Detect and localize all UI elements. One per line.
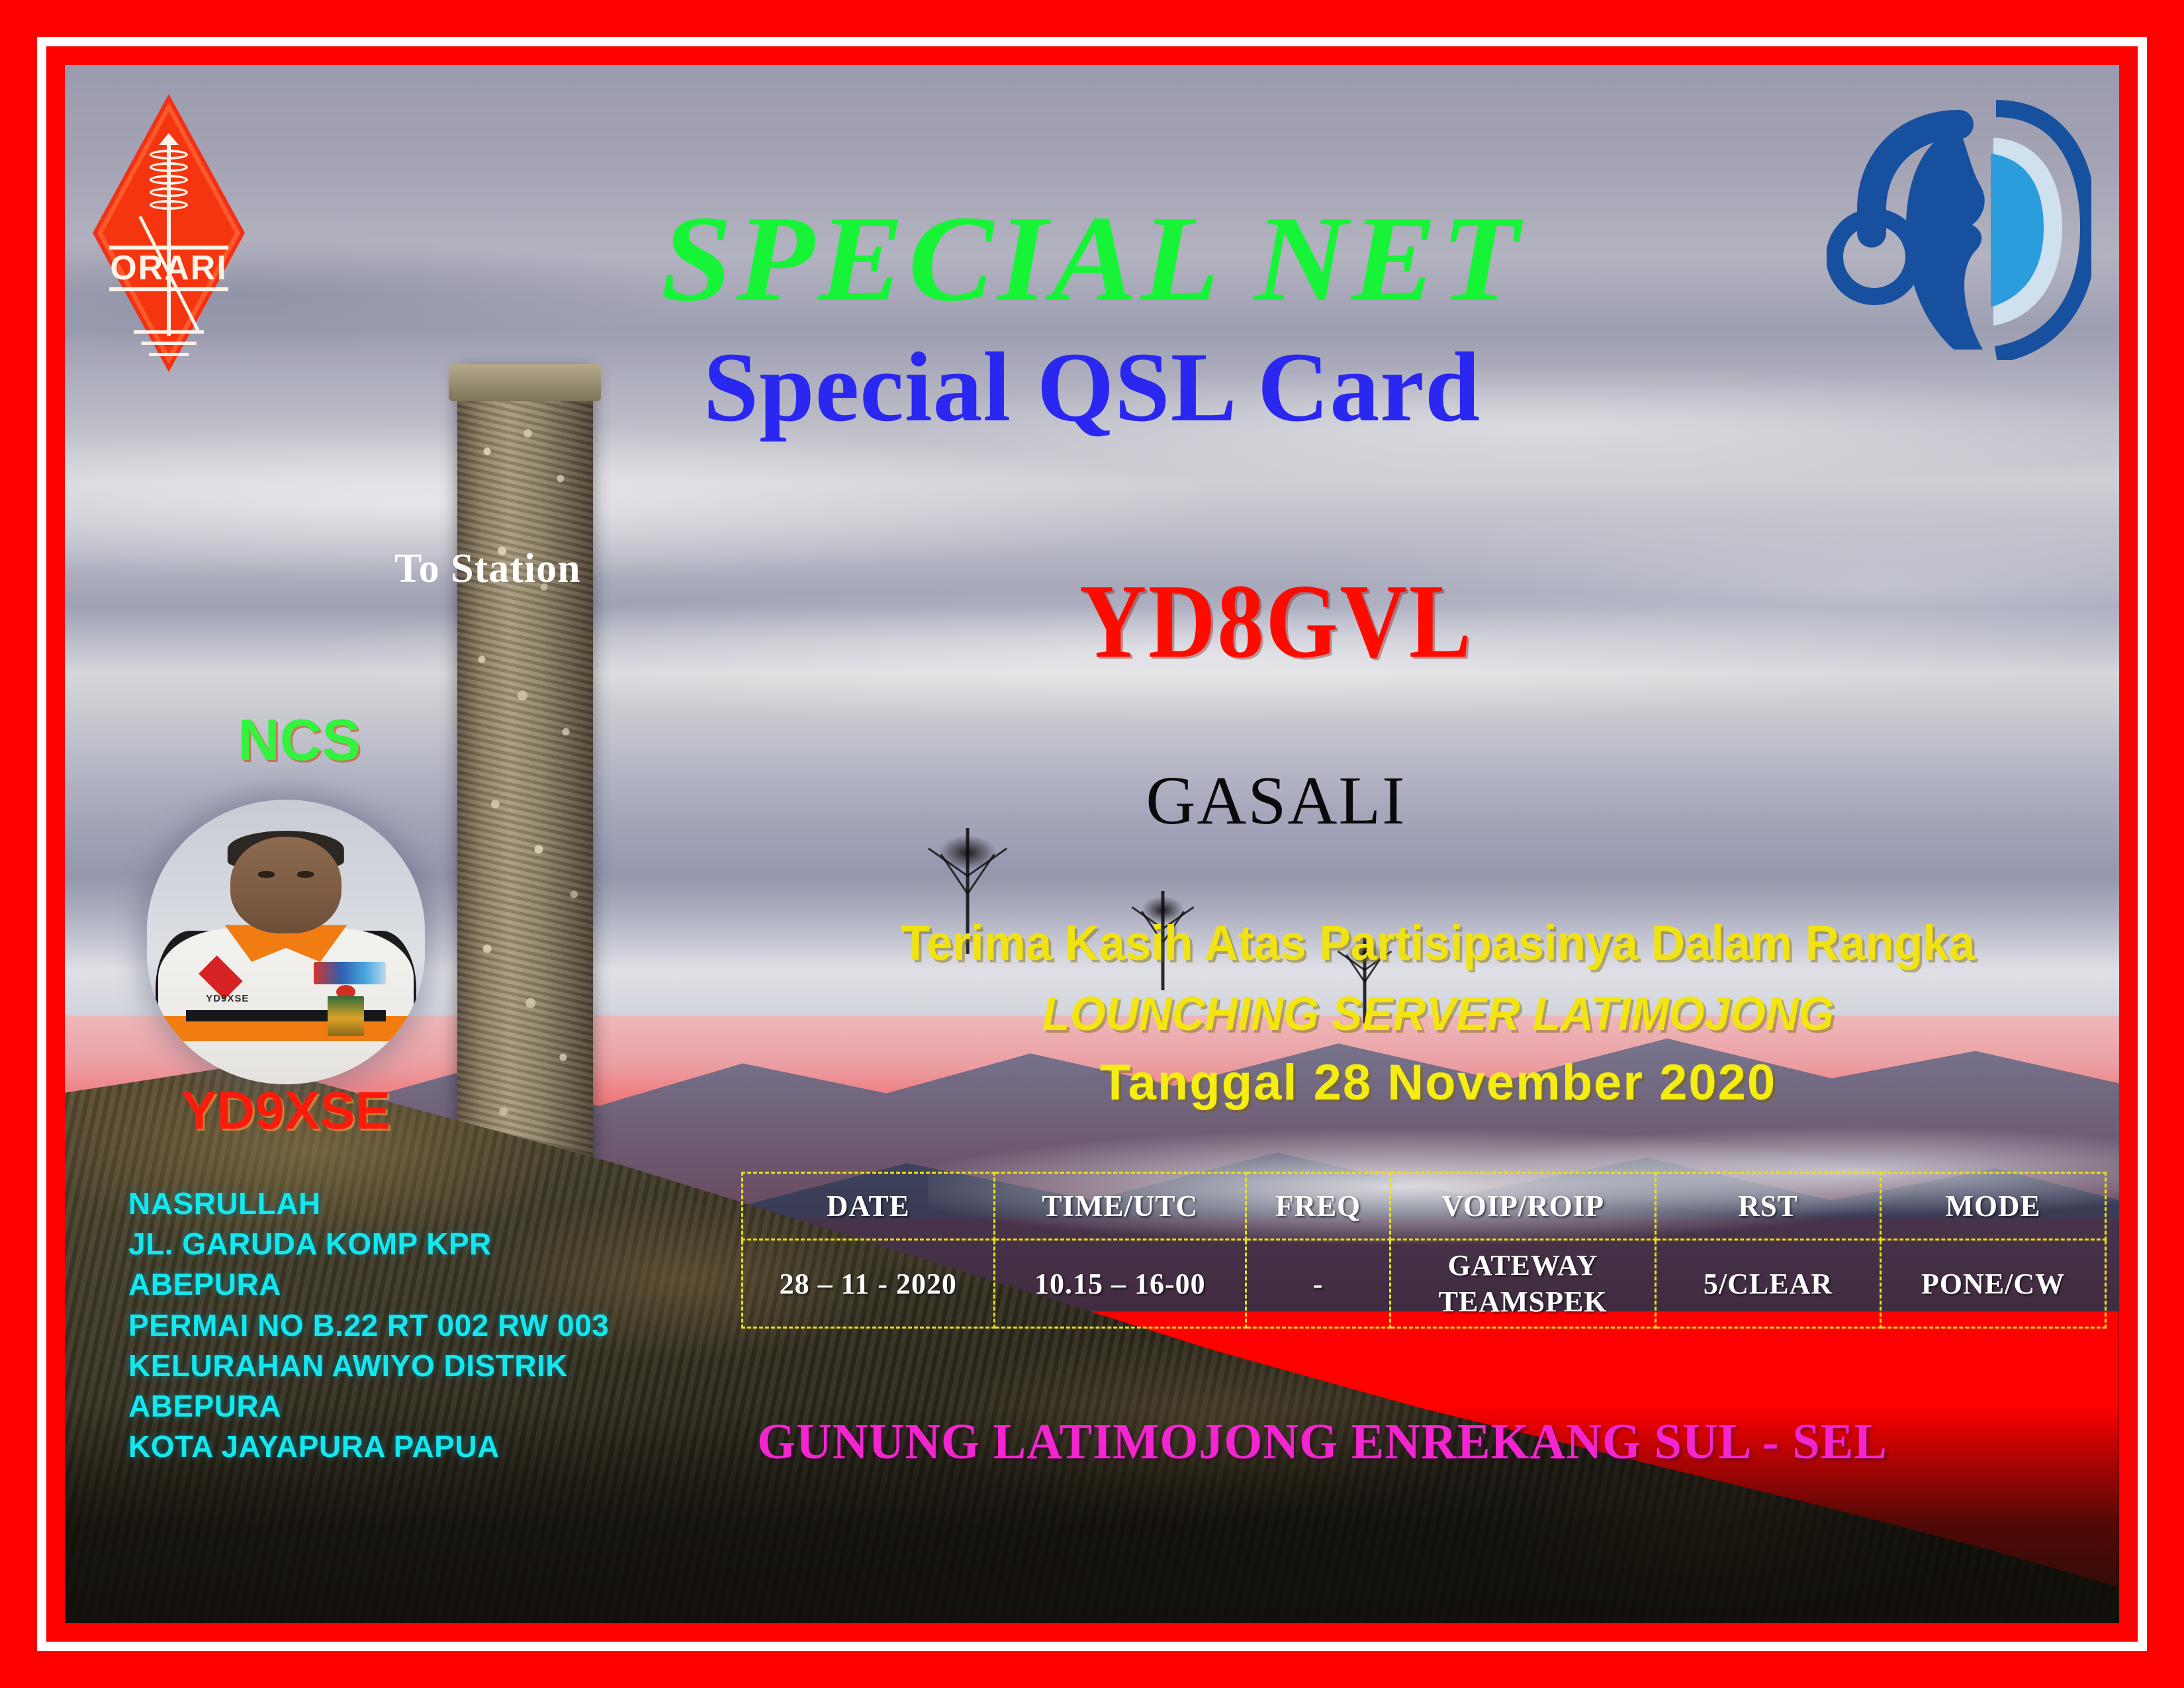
address-line: NASRULLAH xyxy=(128,1184,724,1224)
cell-voip-line1: GATEWAY xyxy=(1392,1247,1654,1284)
ncs-shirt-patch-text: YD9XSE xyxy=(186,993,269,1004)
to-station-label: To Station xyxy=(394,545,581,592)
station-callsign: YD8GVL xyxy=(897,568,1655,674)
address-line: ABEPURA xyxy=(128,1386,724,1427)
cell-voip-line2: TEAMSPEK xyxy=(1392,1284,1654,1320)
ncs-label: NCS xyxy=(200,711,398,769)
cell-date: 28 – 11 - 2020 xyxy=(743,1240,995,1328)
table-header-time: TIME/UTC xyxy=(994,1173,1246,1240)
cell-rst: 5/CLEAR xyxy=(1656,1240,1881,1328)
cell-freq: - xyxy=(1246,1240,1390,1328)
cell-mode: PONE/CW xyxy=(1881,1240,2106,1328)
table-header-row: DATE TIME/UTC FREQ VOIP/ROIP RST MODE xyxy=(743,1173,2106,1240)
ncs-callsign: YD9XSE xyxy=(147,1084,425,1137)
qsl-card: ORARI SPECIAL NET Special QSL Card xyxy=(0,0,2184,1688)
station-address-block: NASRULLAH JL. GARUDA KOMP KPR ABEPURA PE… xyxy=(128,1184,724,1467)
location-line: GUNUNG LATIMOJONG ENREKANG SUL - SEL xyxy=(674,1417,1971,1467)
table-header-mode: MODE xyxy=(1881,1173,2106,1240)
address-line: KELURAHAN AWIYO DISTRIK xyxy=(128,1346,724,1386)
cell-time: 10.15 – 16-00 xyxy=(994,1240,1246,1328)
table-row: 28 – 11 - 2020 10.15 – 16-00 - GATEWAY T… xyxy=(743,1240,2106,1328)
event-date-line: Tanggal 28 November 2020 xyxy=(760,1058,2116,1108)
address-line: KOTA JAYAPURA PAPUA xyxy=(128,1427,724,1467)
address-line: JL. GARUDA KOMP KPR xyxy=(128,1224,724,1264)
event-line: LOUNCHING SERVER LATIMOJONG xyxy=(787,990,2089,1038)
card-title-special-net: SPECIAL NET xyxy=(65,197,2119,320)
cell-voip: GATEWAY TEAMSPEK xyxy=(1390,1240,1656,1328)
address-line: ABEPURA xyxy=(128,1264,724,1305)
ncs-operator-photo: YD9XSE xyxy=(147,800,425,1084)
table-header-freq: FREQ xyxy=(1246,1173,1390,1240)
table-header-rst: RST xyxy=(1656,1173,1881,1240)
table-header-date: DATE xyxy=(743,1173,995,1240)
table-header-voip: VOIP/ROIP xyxy=(1390,1173,1656,1240)
card-subtitle-qsl: Special QSL Card xyxy=(65,338,2119,437)
thanks-line: Terima Kasih Atas Partisipasinya Dalam R… xyxy=(787,919,2089,968)
station-operator-name: GASALI xyxy=(846,767,1706,835)
card-content-overlay: ORARI SPECIAL NET Special QSL Card xyxy=(65,65,2119,1623)
card-photo-plate: ORARI SPECIAL NET Special QSL Card xyxy=(65,65,2119,1623)
qso-log-table: DATE TIME/UTC FREQ VOIP/ROIP RST MODE 28… xyxy=(741,1172,2107,1329)
address-line: PERMAI NO B.22 RT 002 RW 003 xyxy=(128,1305,724,1346)
